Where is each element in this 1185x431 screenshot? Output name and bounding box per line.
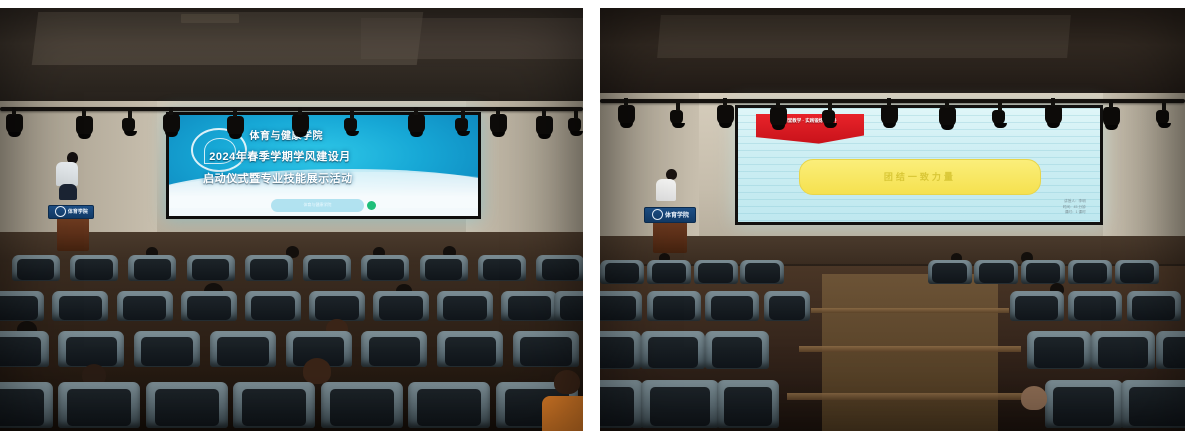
audience-head: [554, 370, 580, 394]
seat: [303, 255, 351, 281]
photo-left: 体育与健康学院 2024年春季学期学风建设月 启动仪式暨专业技能展示活动 体育与…: [0, 8, 583, 431]
audience-head: [1021, 386, 1047, 410]
seat: [187, 255, 235, 281]
podium-plate-text: 体育学院: [68, 208, 88, 215]
screen-side-note: 讲授人：李明 时间：45 分钟 课时：1 课时: [1063, 199, 1086, 215]
center-aisle: [822, 274, 998, 431]
ceiling-left: [0, 8, 583, 110]
stage-light: [670, 110, 683, 125]
podium-seal-icon: [55, 206, 66, 217]
lighting-truss: [600, 99, 1185, 103]
seat: [1021, 260, 1065, 284]
seat: [245, 291, 301, 321]
photo-pair-page: 体育与健康学院 2024年春季学期学风建设月 启动仪式暨专业技能展示活动 体育与…: [0, 0, 1185, 431]
speaker-lower: [59, 184, 77, 200]
stage-light: [490, 114, 507, 134]
seat: [974, 260, 1018, 284]
screen-title-line-2: 2024年春季学期学风建设月: [209, 148, 350, 164]
stage-light: [76, 116, 93, 136]
screen-footer-label: 体育与健康学院: [303, 202, 331, 208]
stage-light: [1045, 105, 1062, 125]
stage-light: [227, 116, 244, 136]
seat: [1068, 260, 1112, 284]
photo-gutter: [583, 0, 600, 431]
audience-person-orange: [542, 396, 583, 431]
stage-light: [1156, 110, 1169, 125]
seat: [478, 255, 526, 281]
seat: [641, 331, 705, 369]
stage-light: [770, 107, 787, 127]
stage-light: [881, 105, 898, 125]
seat: [117, 291, 173, 321]
seat: [373, 291, 429, 321]
speaker-torso: [56, 162, 78, 186]
seat: [58, 382, 140, 428]
seat: [321, 382, 403, 428]
seat: [600, 331, 641, 369]
stage-light: [344, 118, 357, 133]
stage-light: [408, 114, 425, 134]
stage-light: [163, 114, 180, 134]
podium-nameplate: 体育学院: [644, 207, 696, 223]
seat: [501, 291, 557, 321]
seat: [1121, 380, 1185, 428]
stage-light: [1103, 107, 1120, 127]
seat: [1156, 331, 1185, 369]
seat: [52, 291, 108, 321]
seat: [146, 382, 228, 428]
seat: [408, 382, 490, 428]
seat: [0, 331, 49, 367]
seat: [1027, 331, 1091, 369]
seat: [1010, 291, 1064, 321]
seat: [647, 291, 701, 321]
seat: [764, 291, 810, 321]
speaker-torso: [656, 179, 676, 201]
audience-head: [303, 358, 331, 384]
stage-light: [122, 118, 135, 133]
seat: [641, 380, 719, 428]
seat: [0, 291, 44, 321]
seat: [705, 331, 769, 369]
seat: [1127, 291, 1181, 321]
screen-status-dot: [367, 201, 376, 210]
seat: [134, 331, 200, 367]
seat: [694, 260, 738, 284]
screen-title-line-3: 启动仪式暨专业技能展示活动: [203, 170, 353, 186]
seat: [600, 260, 644, 284]
ceiling-right: [600, 8, 1185, 101]
seat: [309, 291, 365, 321]
seat: [0, 382, 53, 428]
seat: [705, 291, 759, 321]
ceiling-vent: [181, 14, 239, 23]
podium-seal-icon: [652, 209, 663, 220]
seat: [740, 260, 784, 284]
stage-light: [455, 118, 468, 133]
photo-right: 课堂教学 · 实践锻炼与提升 团结一致力量 讲授人：李明 时间：45 分钟 课时…: [600, 8, 1185, 431]
seat: [536, 255, 583, 281]
seat: [128, 255, 176, 281]
seat: [1068, 291, 1122, 321]
stage-light: [992, 110, 1005, 125]
aisle-step: [787, 393, 1033, 400]
seat: [210, 331, 276, 367]
stage-light: [618, 105, 635, 125]
ceiling-panel: [361, 18, 583, 59]
screen-title-line-1: 体育与健康学院: [249, 127, 323, 142]
seat: [554, 291, 583, 321]
seat: [12, 255, 60, 281]
seat: [245, 255, 293, 281]
podium-nameplate: 体育学院: [48, 205, 94, 219]
seat: [181, 291, 237, 321]
stage-light: [292, 114, 309, 134]
seat: [928, 260, 972, 284]
stage-light: [6, 114, 23, 134]
seat: [420, 255, 468, 281]
podium-plate-text: 体育学院: [665, 210, 689, 219]
seat: [1115, 260, 1159, 284]
aisle-step: [811, 308, 1010, 313]
led-screen: 体育与健康学院 2024年春季学期学风建设月 启动仪式暨专业技能展示活动 体育与…: [166, 112, 481, 220]
seat: [513, 331, 579, 367]
seat: [647, 260, 691, 284]
seat: [1045, 380, 1123, 428]
seat: [361, 331, 427, 367]
aisle-step: [799, 346, 1021, 352]
seat: [600, 380, 643, 428]
stage-light: [717, 105, 734, 125]
screen-footer-badge: 体育与健康学院: [271, 199, 364, 212]
stage-light: [568, 118, 581, 133]
seat: [70, 255, 118, 281]
stage-light: [939, 107, 956, 127]
seat: [58, 331, 124, 367]
seat: [361, 255, 409, 281]
ceiling-panel: [657, 15, 1070, 58]
speaker-head: [666, 169, 677, 180]
seat: [437, 331, 503, 367]
seat: [600, 291, 642, 321]
screen-highlight-text: 团结一致力量: [884, 170, 956, 183]
seat: [1091, 331, 1155, 369]
seat: [437, 291, 493, 321]
stage-light: [536, 116, 553, 136]
stage-light: [822, 110, 835, 125]
screen-highlight-box: 团结一致力量: [799, 159, 1040, 195]
seat: [717, 380, 779, 428]
seat: [233, 382, 315, 428]
